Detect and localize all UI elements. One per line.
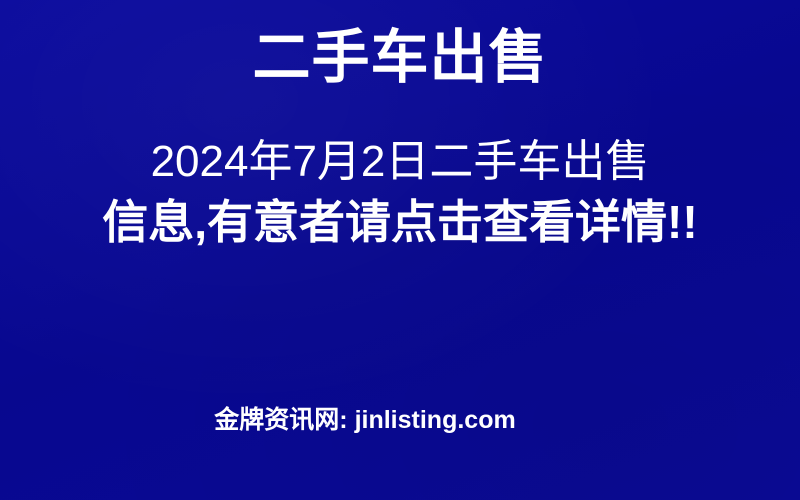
promo-poster: 二手车出售 2024年7月2日二手车出售 信息,有意者请点击查看详情!! 金牌资… bbox=[0, 0, 800, 500]
body-text-line-1: 2024年7月2日二手车出售 bbox=[0, 133, 800, 191]
poster-headline: 二手车出售 bbox=[0, 26, 800, 90]
body-text-line-2: 信息,有意者请点击查看详情!! bbox=[0, 191, 800, 253]
poster-footer: 金牌资讯网: jinlisting.com bbox=[0, 404, 800, 436]
poster-body-copy: 2024年7月2日二手车出售 信息,有意者请点击查看详情!! bbox=[0, 133, 800, 253]
site-credit-text: 金牌资讯网: jinlisting.com bbox=[214, 404, 515, 436]
